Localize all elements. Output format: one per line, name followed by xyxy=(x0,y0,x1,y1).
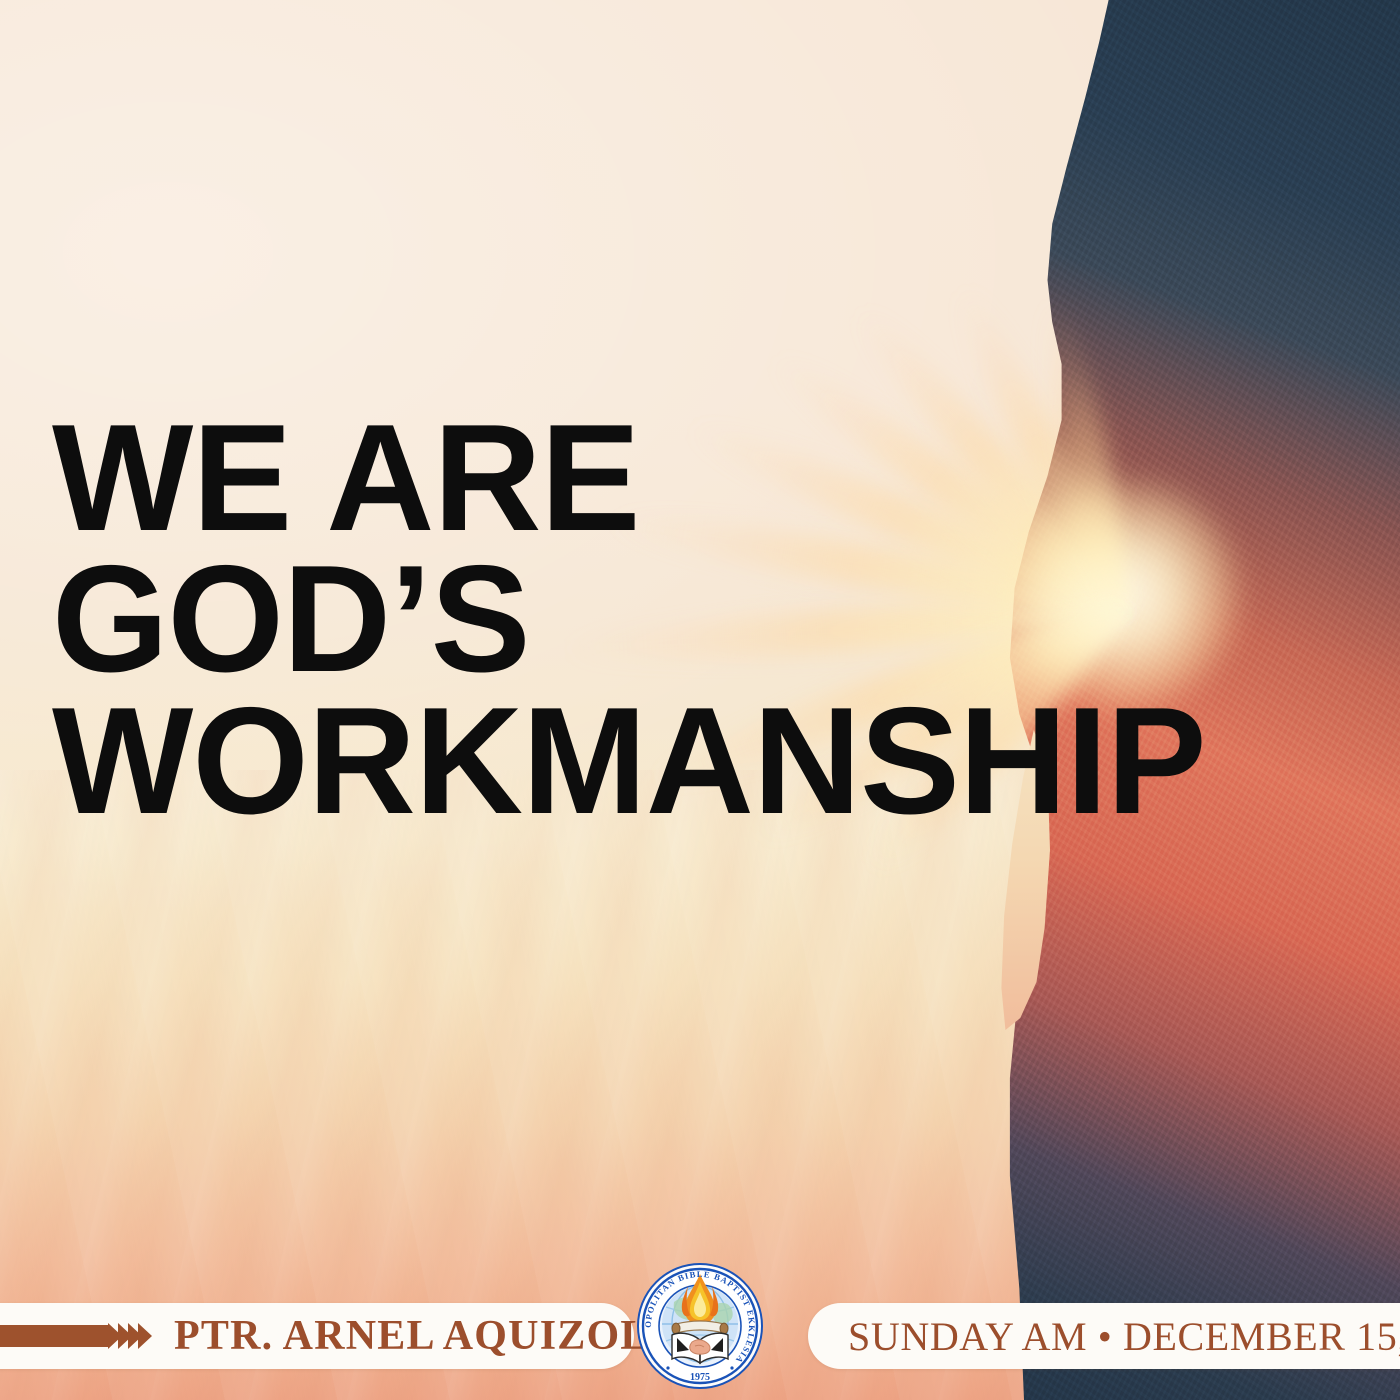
speaker-pill: PTR. ARNEL AQUIZOLA xyxy=(0,1303,634,1369)
chevron-right-icon xyxy=(138,1323,152,1349)
page-title: WE ARE GOD’S WORKMANSHIP xyxy=(52,408,1155,832)
church-logo: METROPOLITAN BIBLE BAPTIST EKKLESIA 1975 xyxy=(636,1262,764,1390)
sermon-poster: WE ARE GOD’S WORKMANSHIP PTR. ARNEL AQUI… xyxy=(0,0,1400,1400)
speaker-name: PTR. ARNEL AQUIZOLA xyxy=(174,1312,681,1360)
service-date-label: SUNDAY AM • DECEMBER 15, 2019 xyxy=(848,1313,1400,1360)
logo-year: 1975 xyxy=(690,1372,710,1383)
service-date-pill: SUNDAY AM • DECEMBER 15, 2019 xyxy=(808,1303,1400,1369)
arrow-bar-icon xyxy=(0,1325,110,1347)
chevron-group-icon xyxy=(112,1323,152,1349)
